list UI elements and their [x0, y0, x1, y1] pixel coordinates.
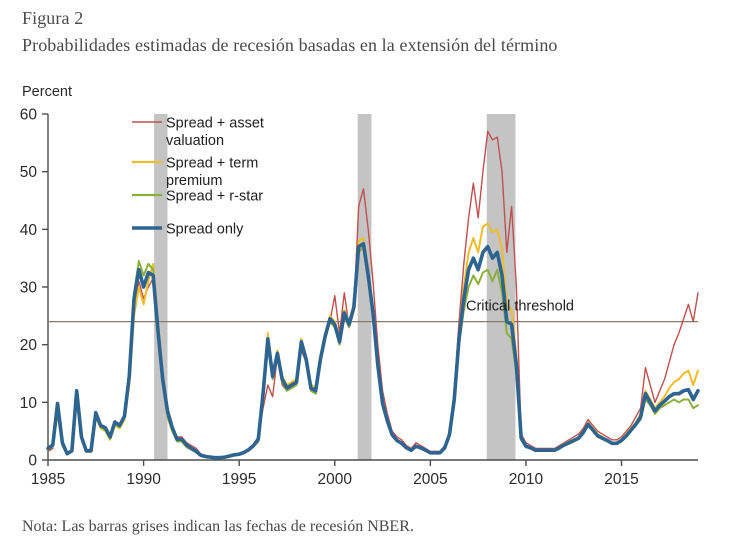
- critical-threshold-label-group: Critical threshold: [466, 299, 574, 315]
- y-tick-label: 10: [20, 395, 38, 412]
- y-tick-label: 20: [20, 337, 38, 354]
- legend-label-3: Spread + r-star: [166, 189, 263, 205]
- y-axis-title: Percent: [22, 84, 72, 100]
- chart-legend: Spread + assetvaluationSpread + termprem…: [132, 116, 264, 238]
- chart-plot-area: 0102030405060 19851990199520002005201020…: [0, 78, 744, 498]
- critical-threshold-label: Critical threshold: [466, 299, 574, 315]
- figure-root: Figura 2 Probabilidades estimadas de rec…: [0, 0, 744, 552]
- x-tick-label: 1990: [126, 471, 161, 488]
- y-axis-ticks-group: 0102030405060: [20, 107, 48, 470]
- y-axis-label-group: Percent: [22, 84, 72, 100]
- y-tick-label: 50: [20, 164, 38, 181]
- y-tick-label: 30: [20, 280, 38, 297]
- figure-label: Figura 2: [22, 8, 83, 29]
- figure-title: Probabilidades estimadas de recesión bas…: [22, 35, 558, 56]
- recession-probability-line-chart: 0102030405060 19851990199520002005201020…: [0, 78, 744, 498]
- x-axis-ticks-group: 1985199019952000200520102015: [31, 460, 639, 488]
- x-tick-label: 1995: [222, 471, 256, 488]
- x-tick-label: 1985: [31, 471, 65, 488]
- legend-label-4: Spread only: [166, 222, 244, 238]
- legend-label-1-cont: valuation: [166, 133, 224, 149]
- y-tick-label: 60: [20, 107, 38, 124]
- y-tick-label: 0: [28, 453, 37, 470]
- x-tick-label: 2005: [413, 471, 447, 488]
- legend-label-2-cont: premium: [166, 173, 222, 189]
- legend-label-2: Spread + term: [166, 156, 258, 172]
- series-lines-group: [48, 131, 698, 458]
- legend-label-1: Spread + asset: [166, 116, 264, 132]
- figure-note: Nota: Las barras grises indican las fech…: [22, 518, 414, 536]
- x-tick-label: 2000: [318, 471, 353, 488]
- x-tick-label: 2015: [604, 471, 638, 488]
- series-line-spread-term-premium: [48, 224, 698, 458]
- x-tick-label: 2010: [509, 471, 544, 488]
- y-tick-label: 40: [20, 222, 38, 239]
